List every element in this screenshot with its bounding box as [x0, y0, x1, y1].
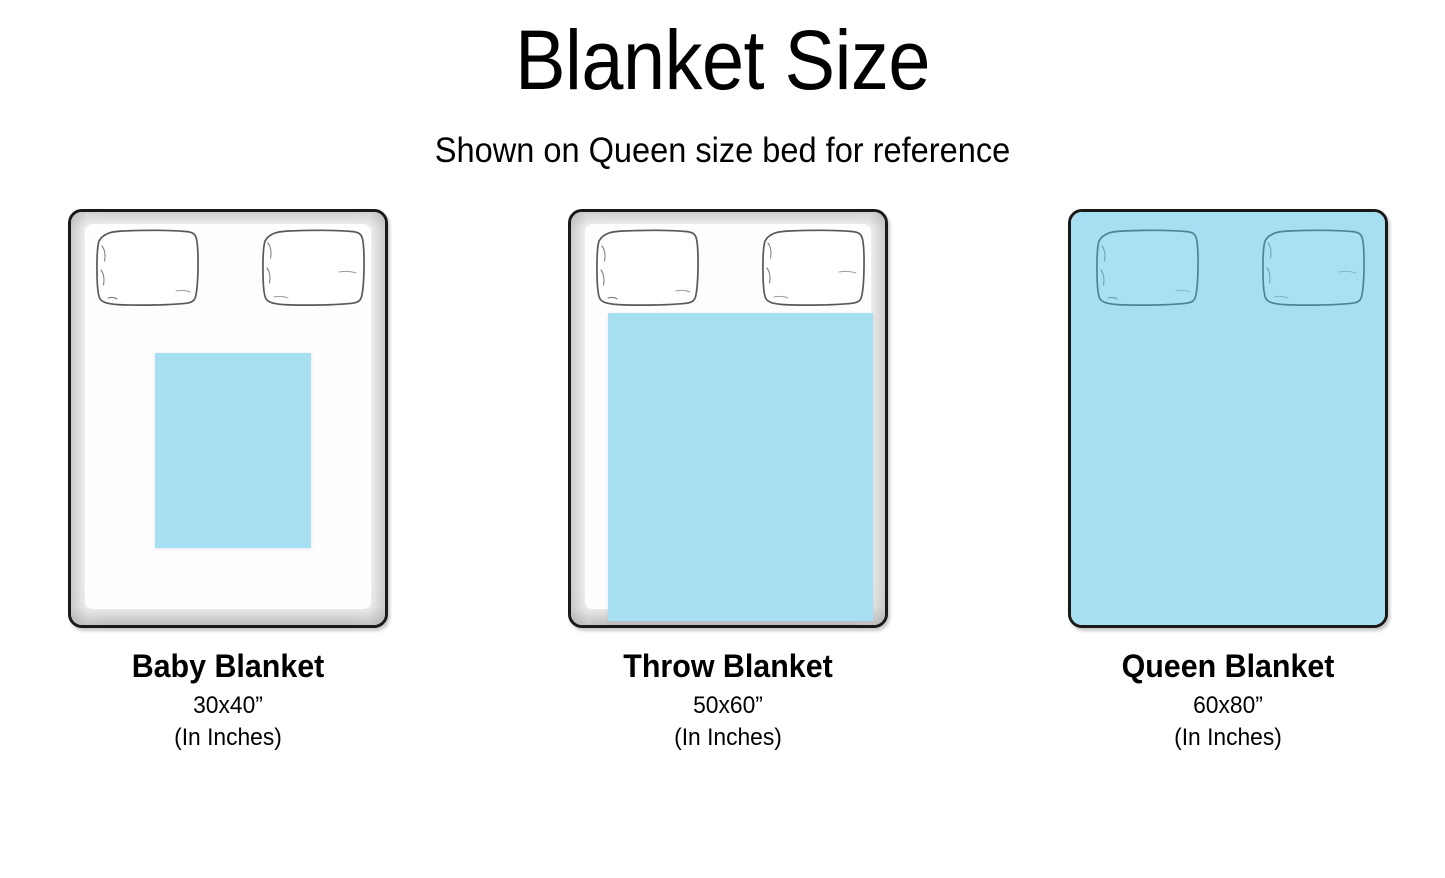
blanket-swatch-baby	[155, 353, 311, 548]
blanket-dimensions: 50x60”	[576, 690, 880, 722]
bed-frame	[1068, 209, 1388, 628]
blanket-unit-note: (In Inches)	[576, 722, 880, 754]
blanket-dimensions: 60x80”	[1076, 690, 1380, 722]
page-title: Blanket Size	[72, 12, 1373, 108]
blanket-size-infographic: Blanket Size Shown on Queen size bed for…	[0, 0, 1445, 878]
blanket-dimensions: 30x40”	[76, 690, 380, 722]
caption-queen: Queen Blanket 60x80” (In Inches)	[1068, 645, 1388, 754]
bed-illustration-throw	[568, 209, 888, 628]
blanket-swatch-throw	[608, 313, 873, 621]
caption-baby: Baby Blanket 30x40” (In Inches)	[68, 645, 388, 754]
bed-illustration-queen	[1068, 209, 1388, 628]
caption-throw: Throw Blanket 50x60” (In Inches)	[568, 645, 888, 754]
blanket-swatch-queen	[1071, 212, 1388, 628]
blanket-unit-note: (In Inches)	[1076, 722, 1380, 754]
bed-frame	[568, 209, 888, 628]
blanket-name: Queen Blanket	[1076, 645, 1380, 687]
blanket-name: Baby Blanket	[76, 645, 380, 687]
bed-illustration-baby	[68, 209, 388, 628]
bed-frame	[68, 209, 388, 628]
page-subtitle: Shown on Queen size bed for reference	[51, 128, 1395, 174]
blanket-name: Throw Blanket	[576, 645, 880, 687]
blanket-unit-note: (In Inches)	[76, 722, 380, 754]
